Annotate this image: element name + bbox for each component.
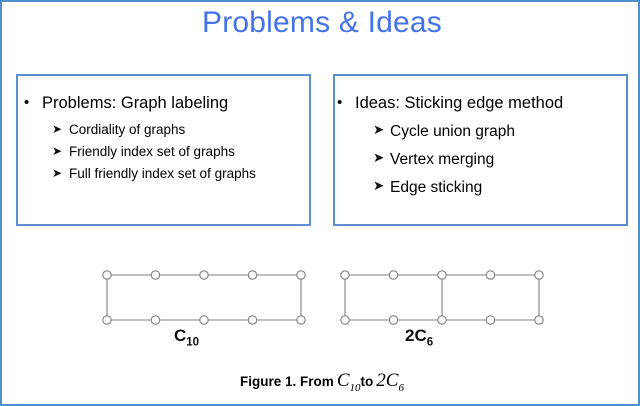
- caption-prefix: Figure 1. From: [240, 374, 334, 389]
- list-item: ➤ Cordiality of graphs: [52, 120, 309, 139]
- arrow-bullet-icon: ➤: [373, 120, 390, 140]
- list-item: ➤ Edge sticking: [373, 176, 626, 200]
- graph-vertex: [151, 271, 159, 279]
- ideas-sublist: ➤ Cycle union graph ➤ Vertex merging ➤ E…: [373, 120, 626, 200]
- arrow-bullet-icon: ➤: [52, 120, 69, 138]
- graph-vertex: [297, 316, 305, 324]
- bullet-icon: •: [24, 93, 42, 113]
- caption-from: C10: [337, 370, 361, 391]
- graph-vertex: [341, 271, 349, 279]
- graph-vertex: [486, 271, 494, 279]
- graph-vertex: [297, 271, 305, 279]
- graph-vertex: [151, 316, 159, 324]
- list-item: ➤ Cycle union graph: [373, 120, 626, 144]
- problems-heading-row: • Problems: Graph labeling: [24, 93, 309, 114]
- graph-vertex: [535, 316, 543, 324]
- list-item: ➤ Vertex merging: [373, 148, 626, 172]
- ideas-box: • Ideas: Sticking edge method ➤ Cycle un…: [333, 74, 628, 226]
- problems-box: • Problems: Graph labeling ➤ Cordiality …: [16, 74, 311, 226]
- arrow-bullet-icon: ➤: [52, 142, 69, 160]
- graph-label-c10: C10: [174, 326, 199, 348]
- graph-label-2c6-main: 2C: [405, 326, 427, 345]
- graph-vertex: [389, 271, 397, 279]
- caption-to-sub: 6: [398, 382, 404, 394]
- arrow-bullet-icon: ➤: [52, 164, 69, 182]
- problems-heading: Problems: Graph labeling: [42, 93, 228, 114]
- list-item-label: Edge sticking: [390, 176, 626, 200]
- graph-vertex: [438, 271, 446, 279]
- ideas-heading: Ideas: Sticking edge method: [355, 93, 563, 114]
- figure-area: C10 2C6 Figure 1. FromC10to2C6: [2, 248, 640, 406]
- list-item-label: Cordiality of graphs: [69, 120, 309, 139]
- arrow-bullet-icon: ➤: [373, 148, 390, 168]
- graph-label-c10-sub: 10: [186, 336, 199, 348]
- graph-vertex: [200, 271, 208, 279]
- graph-vertex: [248, 316, 256, 324]
- graph-label-2c6: 2C6: [405, 326, 433, 348]
- caption-from-main: C: [337, 370, 350, 391]
- list-item-label: Friendly index set of graphs: [69, 142, 309, 161]
- figure-caption: Figure 1. FromC10to2C6: [2, 370, 640, 394]
- slide-page: Problems & Ideas • Problems: Graph label…: [0, 0, 640, 406]
- page-title: Problems & Ideas: [2, 6, 640, 40]
- graph-diagrams: [2, 248, 640, 363]
- graph-c10: [103, 271, 305, 324]
- graph-vertex: [248, 271, 256, 279]
- graph-vertex: [341, 316, 349, 324]
- graph-vertex: [535, 271, 543, 279]
- graph-2c6: [341, 271, 543, 324]
- ideas-heading-row: • Ideas: Sticking edge method: [337, 93, 626, 114]
- graph-vertex: [389, 316, 397, 324]
- graph-label-c10-main: C: [174, 326, 186, 345]
- list-item: ➤ Full friendly index set of graphs: [52, 164, 309, 183]
- bullet-icon: •: [337, 93, 355, 113]
- graph-vertex: [103, 271, 111, 279]
- list-item-label: Vertex merging: [390, 148, 626, 172]
- list-item-label: Cycle union graph: [390, 120, 626, 144]
- list-item-label: Full friendly index set of graphs: [69, 164, 309, 183]
- caption-to: 2C6: [376, 370, 404, 391]
- graph-vertex: [200, 316, 208, 324]
- arrow-bullet-icon: ➤: [373, 176, 390, 196]
- caption-connector: to: [361, 374, 374, 389]
- graph-vertex: [103, 316, 111, 324]
- graph-vertex: [438, 316, 446, 324]
- graph-label-2c6-sub: 6: [427, 336, 433, 348]
- problems-sublist: ➤ Cordiality of graphs ➤ Friendly index …: [52, 120, 309, 183]
- caption-from-sub: 10: [350, 382, 361, 394]
- graph-vertex: [486, 316, 494, 324]
- caption-to-main: 2C: [376, 370, 398, 391]
- list-item: ➤ Friendly index set of graphs: [52, 142, 309, 161]
